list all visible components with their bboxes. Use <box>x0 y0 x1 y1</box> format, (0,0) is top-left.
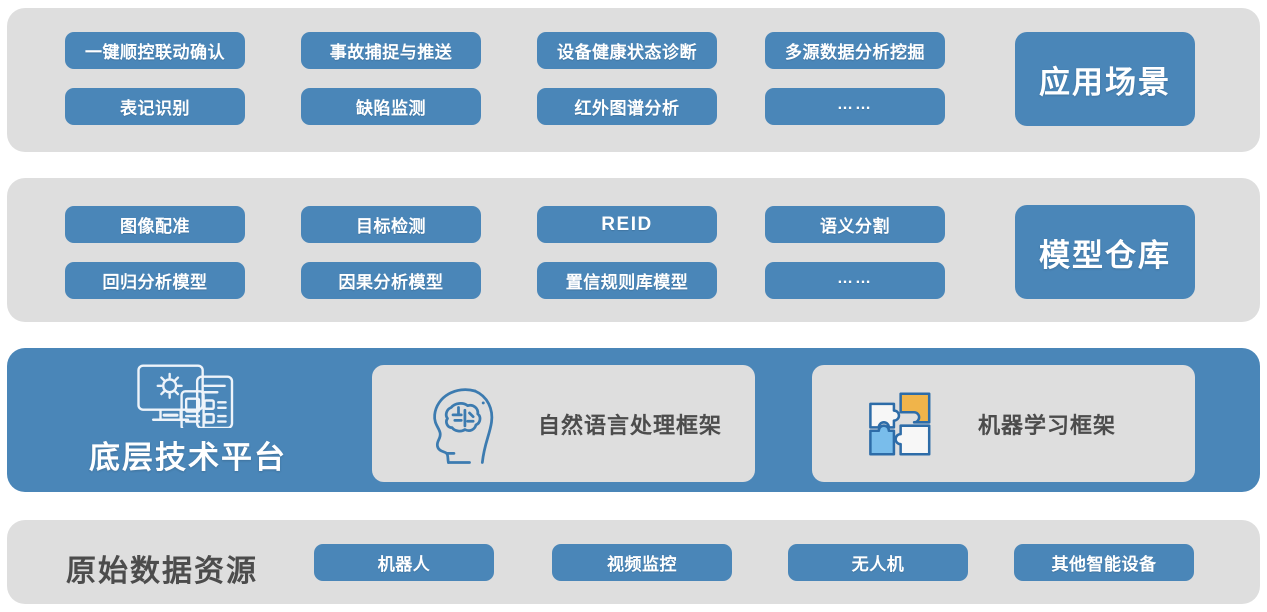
pill-model-6[interactable]: 因果分析模型 <box>301 262 481 299</box>
pill-application-scenario-3[interactable]: 设备健康状态诊断 <box>537 32 717 69</box>
pill-application-scenario-more[interactable]: …… <box>765 88 945 125</box>
framework-card-ml[interactable]: 机器学习框架 <box>812 365 1195 482</box>
pill-application-scenario-2[interactable]: 事故捕捉与推送 <box>301 32 481 69</box>
pill-application-scenario-6[interactable]: 缺陷监测 <box>301 88 481 125</box>
pill-label: 无人机 <box>852 550 905 575</box>
pill-label: 事故捕捉与推送 <box>330 38 453 63</box>
pill-label: 红外图谱分析 <box>575 94 680 119</box>
pill-label: 置信规则库模型 <box>566 268 689 293</box>
pill-label: 机器人 <box>378 550 431 575</box>
framework-card-nlp[interactable]: 自然语言处理框架 <box>372 365 755 482</box>
architecture-diagram: 一键顺控联动确认 事故捕捉与推送 设备健康状态诊断 多源数据分析挖掘 表记识别 … <box>0 0 1267 612</box>
pill-raw-data-2[interactable]: 视频监控 <box>552 544 732 581</box>
pill-label: 因果分析模型 <box>339 268 444 293</box>
pill-label: 其他智能设备 <box>1052 550 1157 575</box>
pill-label: 图像配准 <box>120 212 190 237</box>
pill-model-4[interactable]: 语义分割 <box>765 206 945 243</box>
pill-label: …… <box>837 96 873 114</box>
pill-model-2[interactable]: 目标检测 <box>301 206 481 243</box>
pill-application-scenario-7[interactable]: 红外图谱分析 <box>537 88 717 125</box>
pill-raw-data-1[interactable]: 机器人 <box>314 544 494 581</box>
pill-model-3[interactable]: REID <box>537 206 717 243</box>
puzzle-pieces-icon <box>856 376 952 472</box>
framework-label: 自然语言处理框架 <box>538 408 722 440</box>
pill-label: 一键顺控联动确认 <box>85 38 225 63</box>
framework-label: 机器学习框架 <box>978 408 1116 440</box>
category-application-scenarios[interactable]: 应用场景 <box>1015 32 1195 126</box>
brain-head-icon <box>416 376 512 472</box>
technology-platform-label-group: 底层技术平台 <box>38 362 338 482</box>
pill-label: 多源数据分析挖掘 <box>785 38 925 63</box>
pill-model-more[interactable]: …… <box>765 262 945 299</box>
pill-raw-data-4[interactable]: 其他智能设备 <box>1014 544 1194 581</box>
monitor-gear-devices-icon <box>130 362 246 428</box>
pill-model-5[interactable]: 回归分析模型 <box>65 262 245 299</box>
pill-label: 视频监控 <box>607 550 677 575</box>
pill-label: 表记识别 <box>120 94 190 119</box>
pill-application-scenario-5[interactable]: 表记识别 <box>65 88 245 125</box>
pill-label: 回归分析模型 <box>103 268 208 293</box>
pill-label: REID <box>601 214 652 236</box>
pill-label: 缺陷监测 <box>356 94 426 119</box>
pill-label: 目标检测 <box>356 212 426 237</box>
pill-application-scenario-4[interactable]: 多源数据分析挖掘 <box>765 32 945 69</box>
pill-application-scenario-1[interactable]: 一键顺控联动确认 <box>65 32 245 69</box>
category-label: 模型仓库 <box>1039 230 1171 275</box>
pill-model-1[interactable]: 图像配准 <box>65 206 245 243</box>
pill-label: …… <box>837 270 873 288</box>
pill-label: 设备健康状态诊断 <box>557 38 697 63</box>
pill-model-7[interactable]: 置信规则库模型 <box>537 262 717 299</box>
category-model-repository[interactable]: 模型仓库 <box>1015 205 1195 299</box>
category-label: 应用场景 <box>1039 57 1171 102</box>
technology-platform-title: 底层技术平台 <box>89 432 287 477</box>
pill-raw-data-3[interactable]: 无人机 <box>788 544 968 581</box>
raw-data-resources-title: 原始数据资源 <box>66 546 258 590</box>
pill-label: 语义分割 <box>820 212 890 237</box>
